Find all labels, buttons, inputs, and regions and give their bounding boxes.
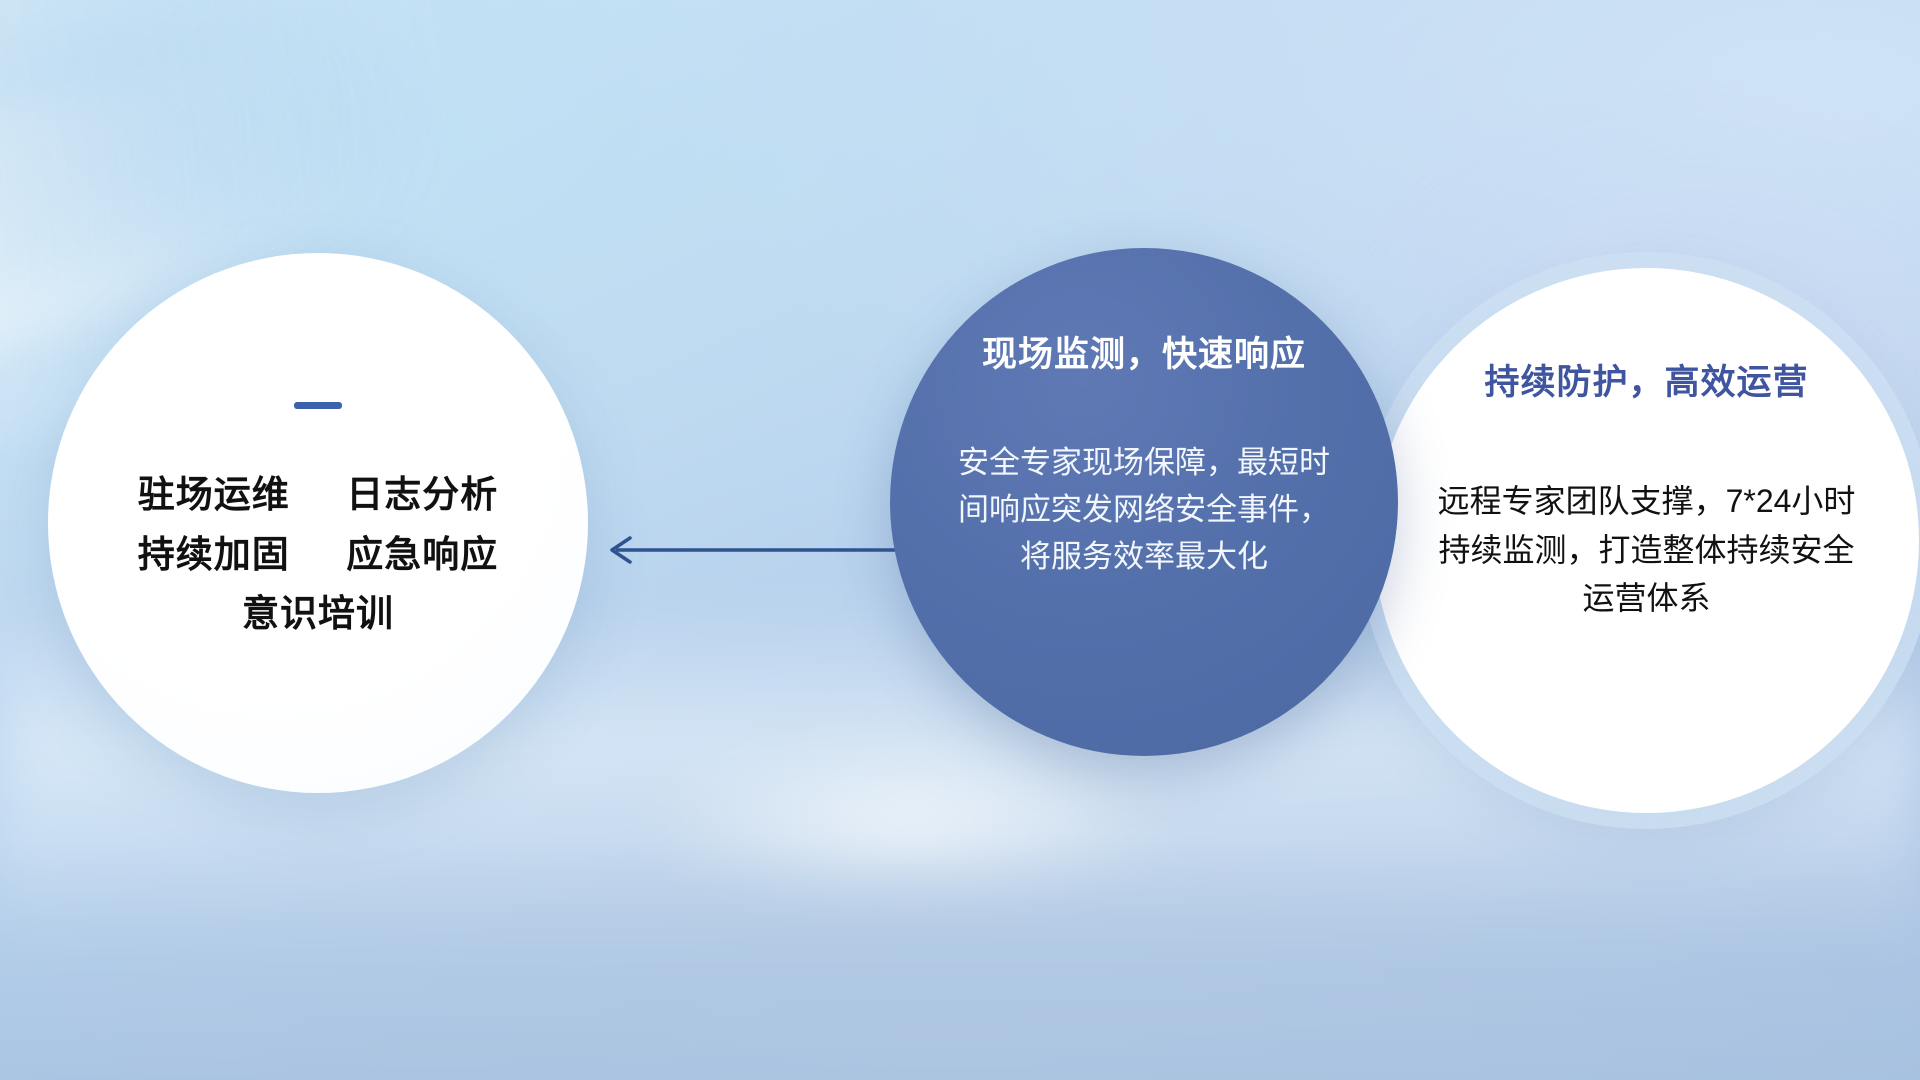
left-circle-row-2: 持续加固 应急响应 (138, 525, 499, 585)
keyword-item: 驻场运维 (138, 474, 290, 515)
divider-dash-icon (294, 402, 342, 409)
middle-circle-heading: 现场监测，快速响应 (982, 326, 1306, 377)
flow-arrow (600, 530, 900, 570)
left-circle-row-1: 驻场运维 日志分析 (138, 465, 499, 525)
keyword-item: 持续加固 (138, 534, 290, 575)
right-circle-body-text: 远程专家团队支撑，7*24小时持续监测，打造整体持续安全运营体系 (1432, 477, 1862, 623)
keyword-item: 意识培训 (242, 593, 394, 634)
diagram-stage: 持续防护，高效运营 远程专家团队支撑，7*24小时持续监测，打造整体持续安全运营… (0, 0, 1920, 1080)
right-circle-card[interactable]: 持续防护，高效运营 远程专家团队支撑，7*24小时持续监测，打造整体持续安全运营… (1374, 268, 1919, 813)
middle-circle-card[interactable]: 现场监测，快速响应 安全专家现场保障，最短时间响应突发网络安全事件，将服务效率最… (890, 248, 1398, 756)
keyword-item: 应急响应 (346, 534, 498, 575)
left-circle-keyword-list: 驻场运维 日志分析 持续加固 应急响应 意识培训 (138, 465, 499, 645)
middle-circle-body-text: 安全专家现场保障，最短时间响应突发网络安全事件，将服务效率最大化 (956, 439, 1332, 580)
keyword-item: 日志分析 (346, 474, 498, 515)
left-circle-row-3: 意识培训 (138, 584, 499, 644)
left-circle-card[interactable]: 驻场运维 日志分析 持续加固 应急响应 意识培训 (48, 253, 588, 793)
flow-arrow-icon (600, 530, 900, 570)
right-circle-heading: 持续防护，高效运营 (1484, 354, 1808, 405)
